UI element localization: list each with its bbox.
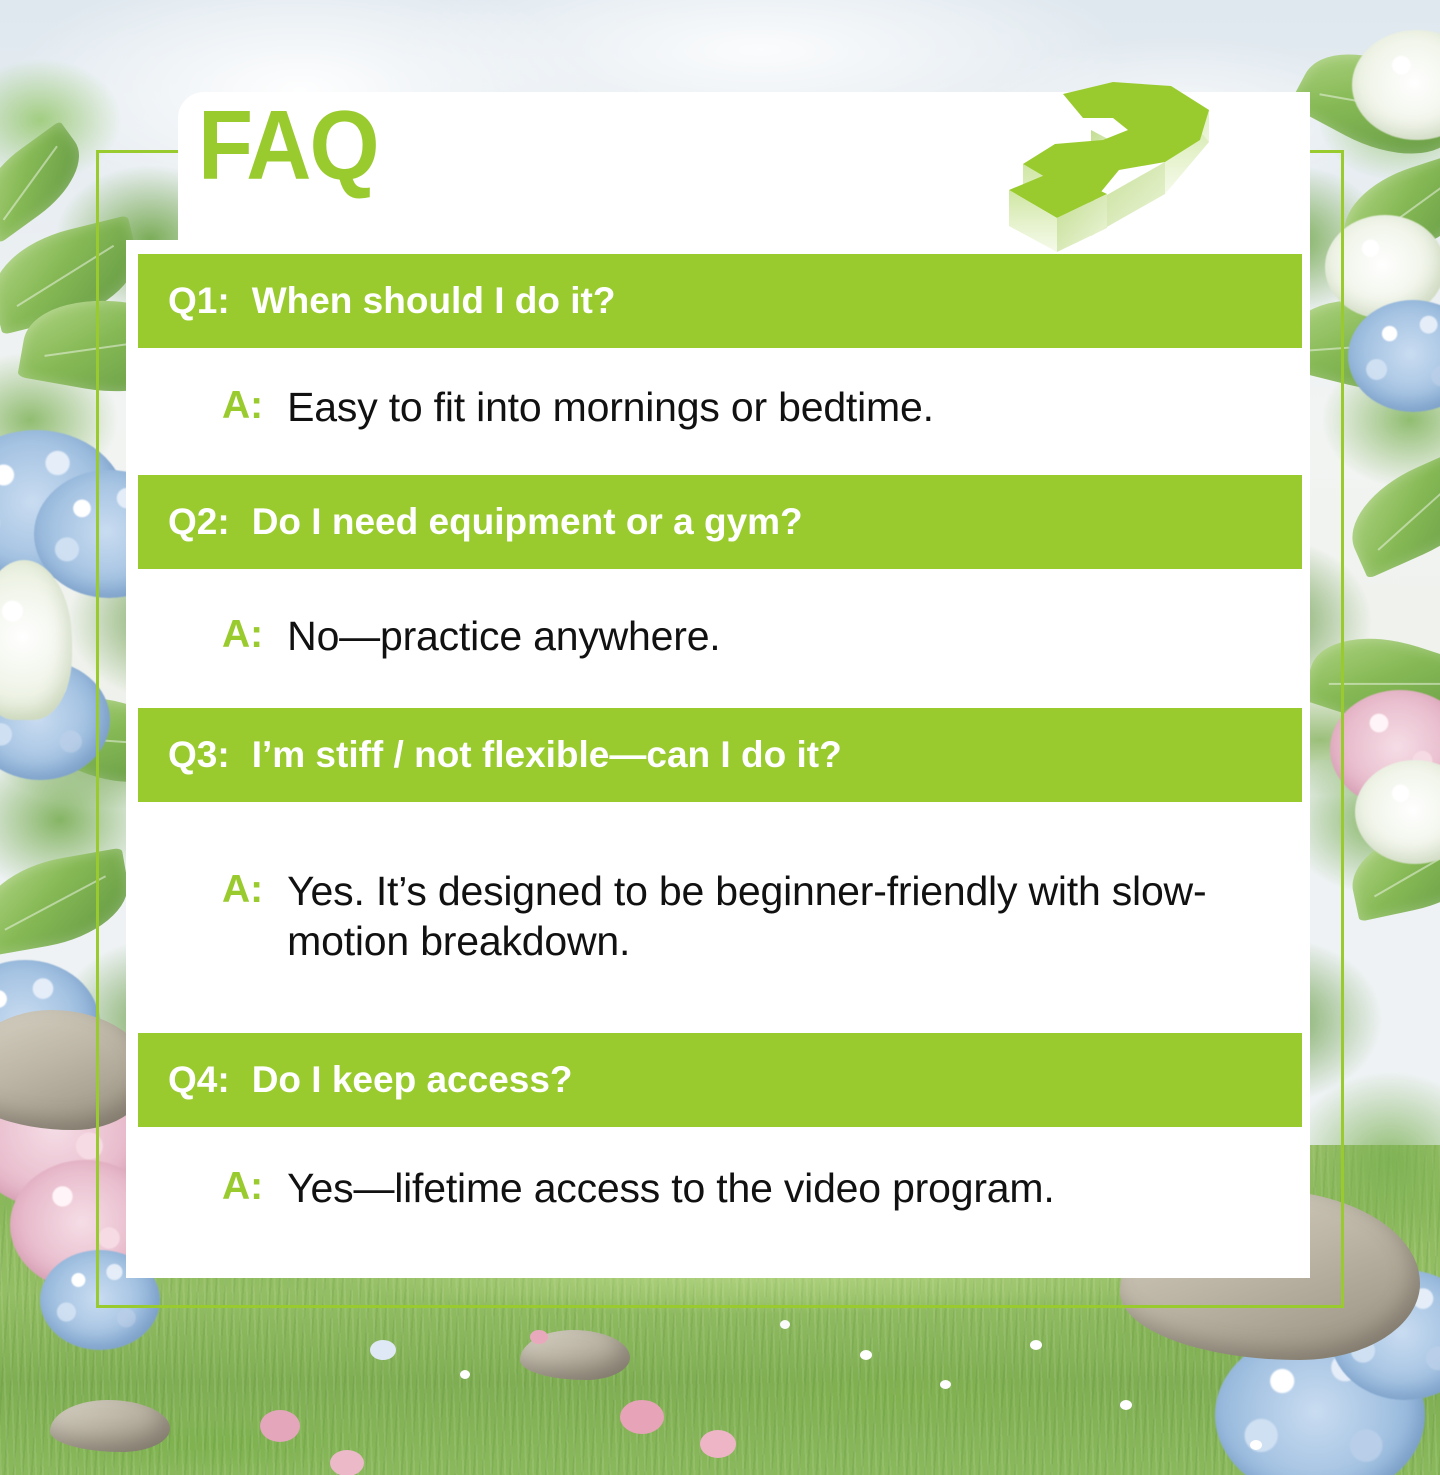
meadow-flower [260, 1410, 300, 1442]
meadow-flower [940, 1380, 951, 1389]
meadow-flower [1030, 1340, 1042, 1350]
faq-answer-key-2: A: [222, 611, 263, 659]
faq-answer-text-4: Yes—lifetime access to the video program… [287, 1163, 1054, 1214]
meadow-flower [1250, 1440, 1262, 1450]
faq-question-bar-3[interactable]: Q3: I’m stiff / not flexible—can I do it… [138, 708, 1302, 802]
meadow-flower [860, 1350, 872, 1360]
faq-question-bar-1[interactable]: Q1: When should I do it? [138, 254, 1302, 348]
meadow-flower [1120, 1400, 1132, 1410]
faq-answer-key-3: A: [222, 866, 263, 914]
faq-question-key-4: Q4: [168, 1059, 230, 1101]
faq-question-text-1: When should I do it? [252, 280, 616, 322]
faq-answer-text-3: Yes. It’s designed to be beginner-friend… [287, 866, 1267, 968]
faq-poster: FAQ Q1: [0, 0, 1440, 1475]
meadow-flower [780, 1320, 790, 1329]
faq-answer-row-3: A: Yes. It’s designed to be beginner-fri… [138, 866, 1302, 968]
faq-question-text-2: Do I need equipment or a gym? [252, 501, 803, 543]
meadow-flower [620, 1400, 664, 1434]
faq-question-bar-2[interactable]: Q2: Do I need equipment or a gym? [138, 475, 1302, 569]
faq-answer-row-2: A: No—practice anywhere. [138, 611, 1302, 662]
question-mark-3d-icon [995, 78, 1230, 253]
faq-answer-key-1: A: [222, 382, 263, 430]
faq-question-text-3: I’m stiff / not flexible—can I do it? [252, 734, 842, 776]
faq-answer-key-4: A: [222, 1163, 263, 1211]
meadow-flower [700, 1430, 736, 1458]
faq-list: Q1: When should I do it? A: Easy to fit … [138, 254, 1302, 1214]
faq-question-key-2: Q2: [168, 501, 230, 543]
meadow-flower [530, 1330, 548, 1344]
meadow-flower [370, 1340, 396, 1360]
rock [50, 1400, 170, 1452]
faq-answer-row-4: A: Yes—lifetime access to the video prog… [138, 1163, 1302, 1214]
faq-question-key-1: Q1: [168, 280, 230, 322]
faq-question-bar-4[interactable]: Q4: Do I keep access? [138, 1033, 1302, 1127]
meadow-flower [460, 1370, 470, 1379]
faq-question-text-4: Do I keep access? [252, 1059, 573, 1101]
meadow-flower [330, 1450, 364, 1475]
faq-answer-text-1: Easy to fit into mornings or bedtime. [287, 382, 934, 433]
page-title: FAQ [198, 96, 378, 194]
faq-question-key-3: Q3: [168, 734, 230, 776]
faq-answer-row-1: A: Easy to fit into mornings or bedtime. [138, 382, 1302, 433]
faq-answer-text-2: No—practice anywhere. [287, 611, 720, 662]
